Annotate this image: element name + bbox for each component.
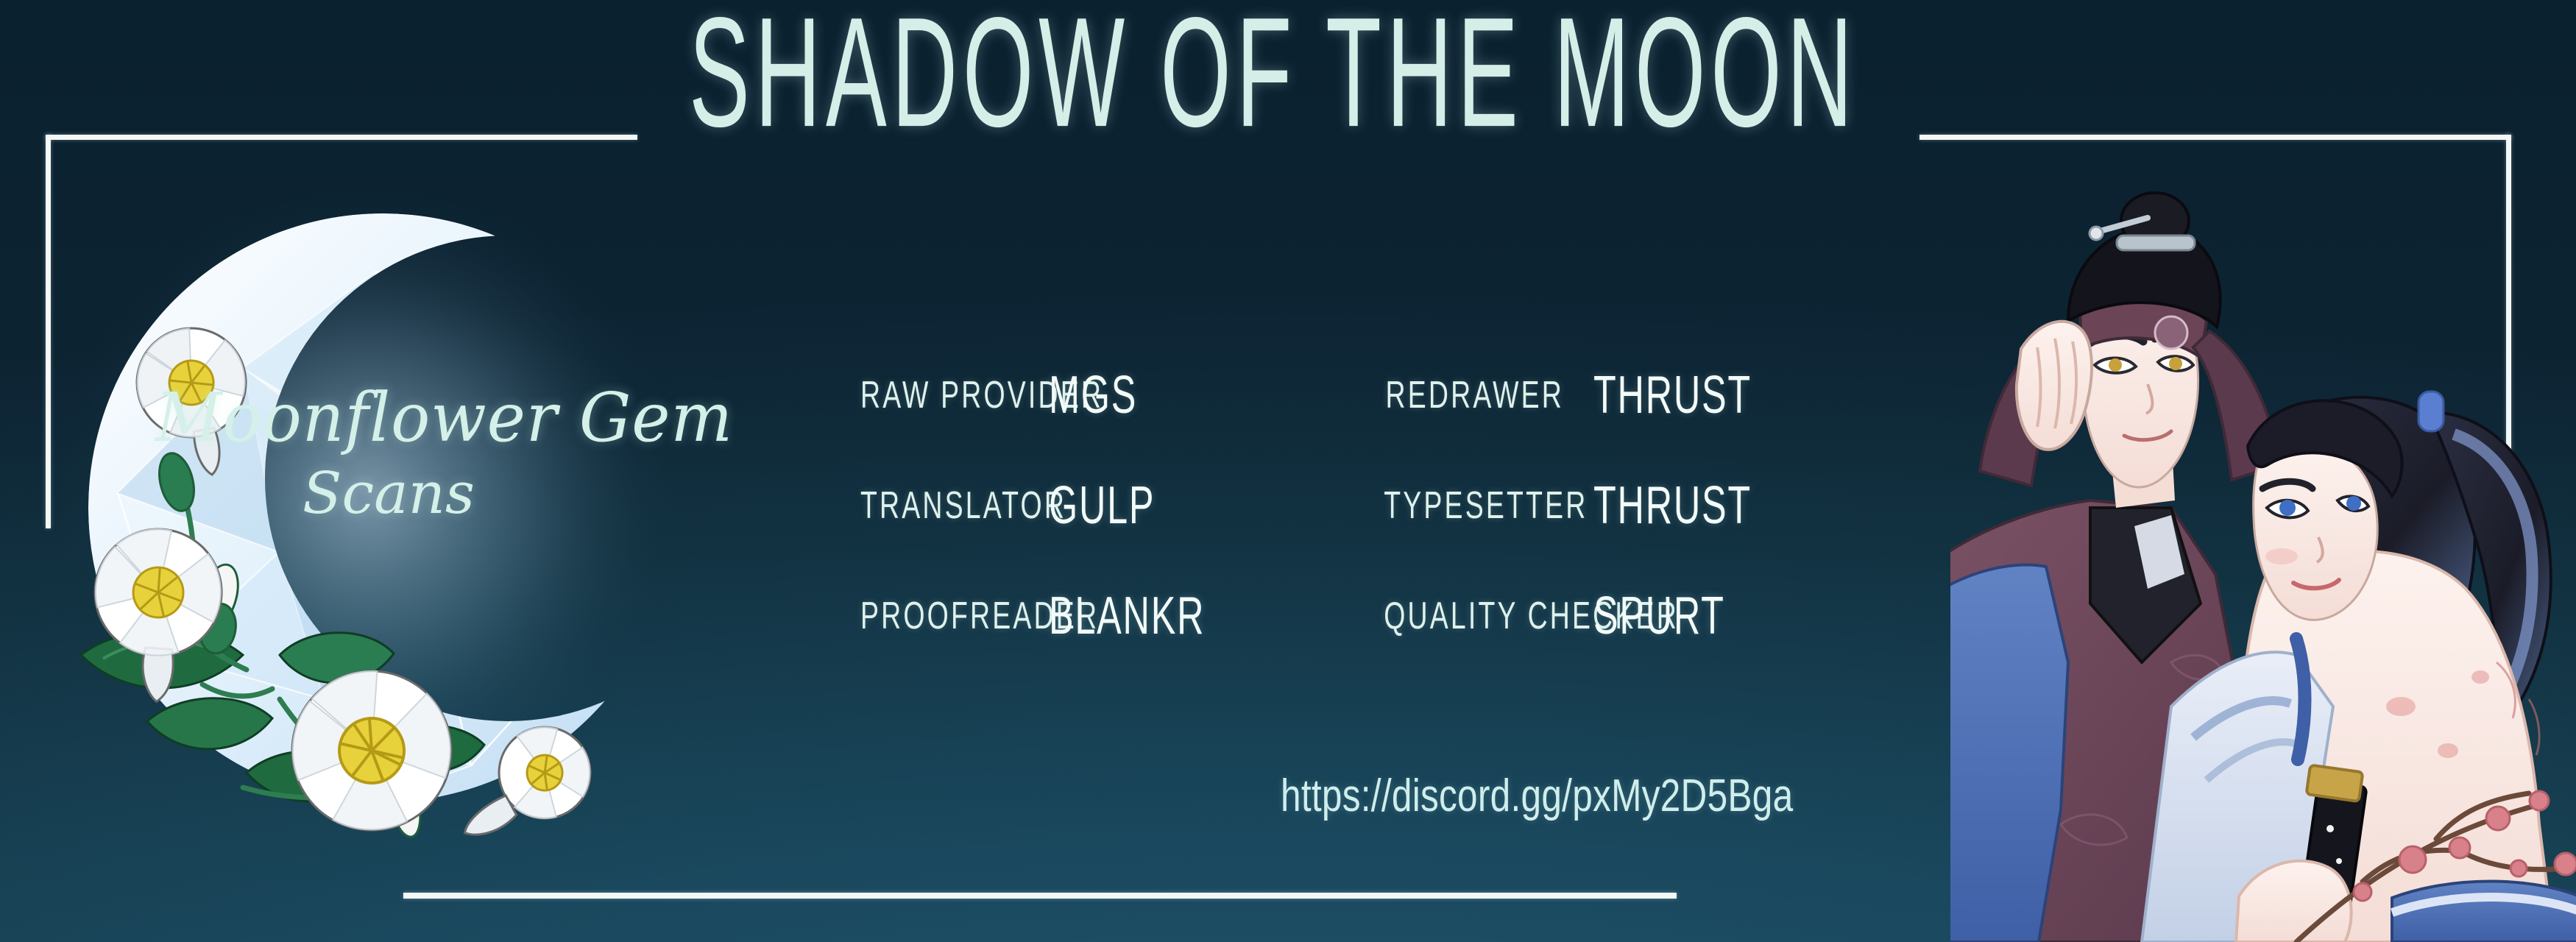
headband-ornament <box>2155 316 2187 349</box>
credit-name-proofreader: BLANKR <box>1049 586 1214 646</box>
credit-role-proofreader: PROOFREADER <box>860 594 1019 638</box>
frame-rule-left-vertical <box>46 135 51 528</box>
frame-rule-top-right <box>1919 135 2511 140</box>
credit-name-quality-checker: SPURT <box>1593 586 1748 646</box>
frame-rule-top-left <box>46 135 637 140</box>
credit-role-quality-checker: QUALITY CHECKER <box>1384 594 1564 638</box>
credit-role-raw-provider: RAW PROVIDER <box>860 373 1019 417</box>
credit-role-redrawer: REDRAWER <box>1384 373 1564 417</box>
credit-name-raw-provider: MGS <box>1049 365 1214 425</box>
discord-invite-link[interactable]: https://discord.gg/pxMy2D5Bga <box>1281 770 1793 822</box>
frame-rule-bottom <box>403 893 1677 899</box>
man-hand <box>2017 322 2092 450</box>
second-face <box>2254 442 2378 620</box>
character-artwork <box>1950 191 2576 942</box>
topknot-ring <box>2117 235 2195 250</box>
second-waistband <box>2392 882 2576 942</box>
page-title: SHADOW OF THE MOON <box>885 7 1661 139</box>
credit-role-translator: TRANSLATOR <box>860 484 1019 528</box>
credit-name-typesetter: THRUST <box>1593 475 1748 536</box>
hair-ribbon <box>2418 392 2444 431</box>
scanlation-group-logo: Moonflower Gem Scans <box>59 184 707 832</box>
credit-name-translator: GULP <box>1049 475 1214 536</box>
credits-grid: RAW PROVIDER MGS REDRAWER THRUST TRANSLA… <box>799 340 1866 671</box>
credits-banner: SHADOW OF THE MOON <box>0 0 2576 942</box>
credit-role-typesetter: TYPESETTER <box>1384 484 1564 528</box>
credit-name-redrawer: THRUST <box>1593 365 1748 425</box>
